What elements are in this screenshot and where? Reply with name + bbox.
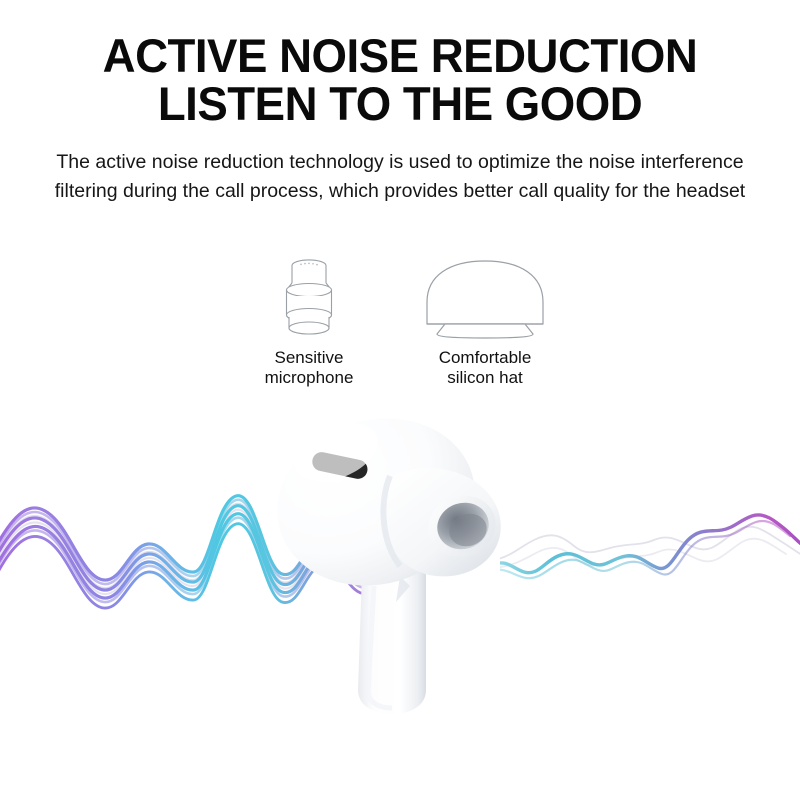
- product-marketing-banner: ACTIVE NOISE REDUCTION LISTEN TO THE GOO…: [0, 0, 800, 800]
- feature-label-line-1: Sensitive: [275, 348, 344, 367]
- feature-sensitive-microphone: Sensitive microphone: [234, 252, 384, 388]
- feature-comfortable-silicon-hat: Comfortable silicon hat: [410, 252, 560, 388]
- page-title: ACTIVE NOISE REDUCTION LISTEN TO THE GOO…: [12, 32, 788, 128]
- feature-label-line-2: microphone: [265, 368, 354, 387]
- headline-line-2: LISTEN TO THE GOOD: [12, 80, 788, 128]
- feature-label-line-2: silicon hat: [447, 368, 523, 387]
- feature-label-microphone: Sensitive microphone: [234, 348, 384, 388]
- description-paragraph: The active noise reduction technology is…: [50, 148, 750, 206]
- microphone-capsule-icon: [234, 252, 384, 340]
- feature-label-line-1: Comfortable: [439, 348, 532, 367]
- headline-line-1: ACTIVE NOISE REDUCTION: [103, 29, 698, 82]
- feature-callouts: Sensitive microphone Comfortable silicon…: [232, 252, 584, 392]
- product-image-earbud: [250, 390, 550, 720]
- feature-label-silicon-hat: Comfortable silicon hat: [410, 348, 560, 388]
- silicon-ear-tip-icon: [410, 252, 560, 340]
